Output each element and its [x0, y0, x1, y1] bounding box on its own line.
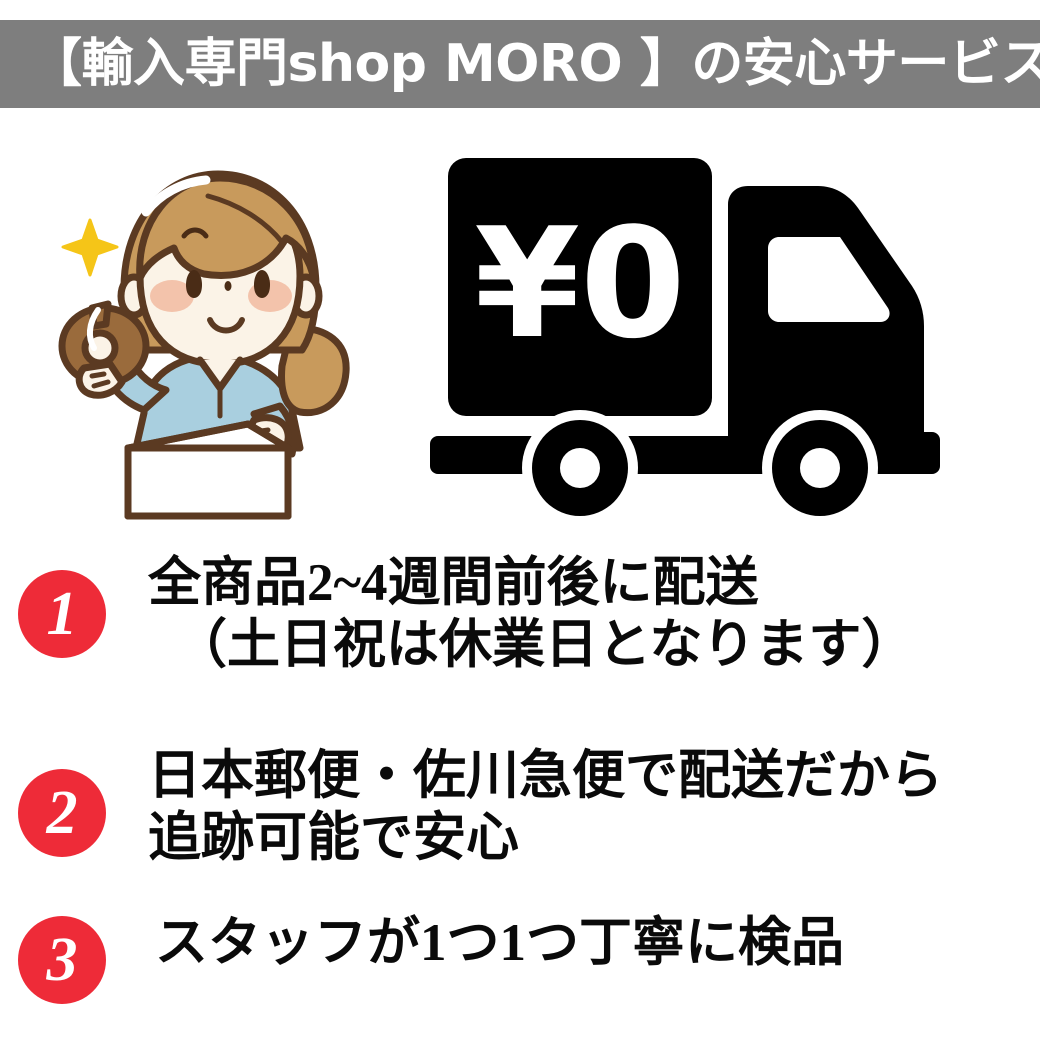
list-item: 2 日本郵便・佐川急便で配送だから 追跡可能で安心 — [0, 743, 1040, 903]
nose — [225, 281, 232, 291]
point-text-3: スタッフが1つ1つ丁寧に検品 — [155, 912, 844, 974]
staff-woman-icon — [48, 148, 398, 523]
point-badge-3: 3 — [18, 916, 106, 1004]
point-1-line-2: （土日祝は休業日となります） — [174, 614, 914, 676]
point-3-line-1: スタッフが1つ1つ丁寧に検品 — [155, 914, 844, 972]
illustration-area: ¥0 — [0, 118, 1040, 538]
staff-woman-illustration — [48, 148, 398, 523]
sparkle-icon — [63, 220, 117, 275]
point-1-line-1: 全商品2~4週間前後に配送 — [148, 554, 759, 612]
list-item: 3 スタッフが1つ1つ丁寧に検品 — [0, 906, 1040, 1016]
promo-banner-page: 【輸入専門shop MORO 】の安心サービス — [0, 0, 1040, 1040]
header-band: 【輸入専門shop MORO 】の安心サービス — [0, 20, 1040, 108]
page-title: 【輸入専門shop MORO 】の安心サービス — [30, 38, 1040, 90]
service-points-list: 1 全商品2~4週間前後に配送 （土日祝は休業日となります） 2 日本郵便・佐川… — [0, 548, 1040, 1040]
point-badge-2: 2 — [18, 769, 106, 857]
list-item: 1 全商品2~4週間前後に配送 （土日祝は休業日となります） — [0, 548, 1040, 738]
point-text-1: 全商品2~4週間前後に配送 （土日祝は休業日となります） — [148, 552, 914, 676]
point-text-2: 日本郵便・佐川急便で配送だから 追跡可能で安心 — [148, 745, 943, 869]
front-bumper — [900, 432, 940, 474]
wheel-front — [762, 410, 878, 526]
hand-left — [79, 364, 122, 395]
free-shipping-truck-illustration: ¥0 — [420, 136, 1000, 531]
wheel-rear — [522, 410, 638, 526]
point-2-line-2: 追跡可能で安心 — [148, 807, 943, 869]
point-badge-1: 1 — [18, 570, 106, 658]
free-shipping-price-label: ¥0 — [474, 195, 686, 372]
point-2-line-1: 日本郵便・佐川急便で配送だから — [148, 747, 943, 805]
delivery-truck-icon: ¥0 — [420, 136, 1000, 531]
